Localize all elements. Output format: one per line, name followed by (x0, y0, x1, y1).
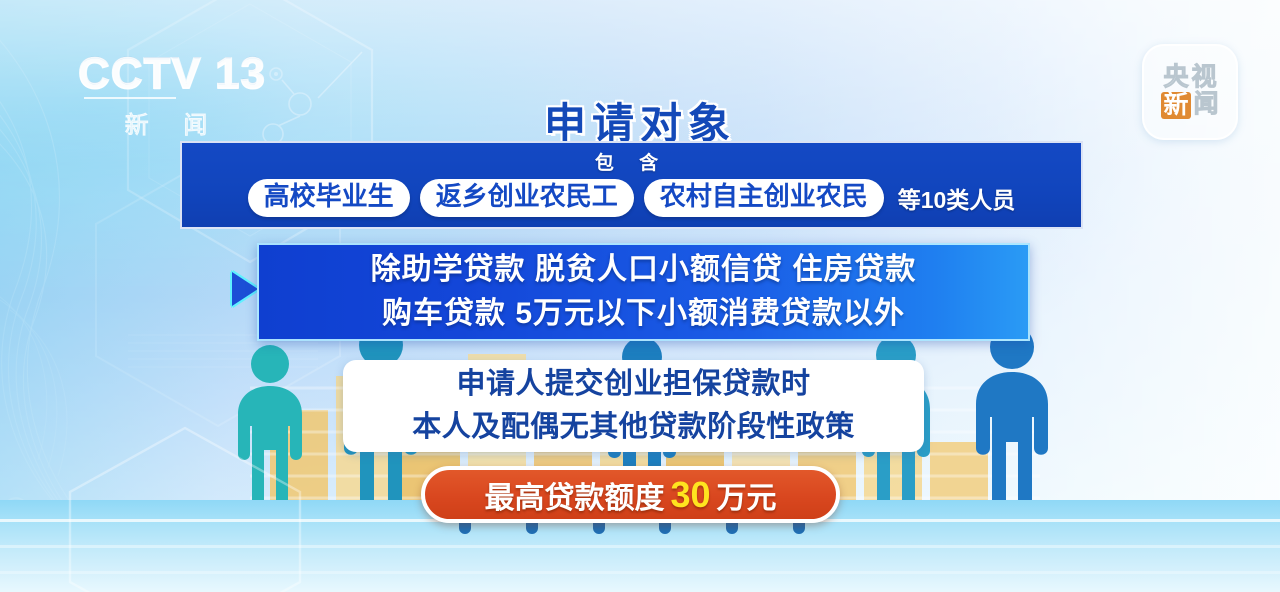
panel-exclude-line-1: 除助学贷款 脱贫人口小额信贷 住房贷款 (371, 248, 917, 292)
panel-policy: 申请人提交创业担保贷款时 本人及配偶无其他贷款阶段性政策 (343, 360, 924, 452)
broadcast-graphic: CCTV 13 新 闻 央 视 新 闻 申请对象 包 含 高校毕业生 返乡创业农… (0, 0, 1280, 592)
chip-rural-self-employed-farmer[interactable]: 农村自主创业农民 (644, 179, 884, 217)
badge-char-shi: 视 (1192, 65, 1217, 90)
badge-char-yang: 央 (1163, 65, 1188, 90)
panel-exclude-line-2: 购车贷款 5万元以下小额消费贷款以外 (382, 292, 905, 336)
max-loan-label: 最高贷款额度 (484, 473, 664, 517)
pill-shadow-dots (432, 521, 832, 535)
decorative-hexagon-floor (60, 422, 310, 592)
panel-include-heading: 包 含 (182, 148, 1081, 175)
chip-returning-migrant-worker[interactable]: 返乡创业农民工 (420, 179, 634, 217)
chip-college-graduate[interactable]: 高校毕业生 (248, 179, 410, 217)
cctv-news-badge-row-1: 央 视 (1163, 65, 1216, 90)
panel-include: 包 含 高校毕业生 返乡创业农民工 农村自主创业农民 等10类人员 (180, 141, 1083, 229)
panel-policy-line-2: 本人及配偶无其他贷款阶段性政策 (412, 406, 855, 449)
panel-exclude: 除助学贷款 脱贫人口小额信贷 住房贷款 购车贷款 5万元以下小额消费贷款以外 (257, 243, 1030, 341)
panel-include-tail: 等10类人员 (898, 181, 1016, 215)
play-triangle-icon (232, 272, 258, 306)
person-silhouette (958, 322, 1066, 506)
max-loan-unit: 万元 (717, 473, 777, 517)
panel-policy-line-1: 申请人提交创业担保贷款时 (456, 363, 810, 406)
max-loan-amount: 30 (670, 477, 710, 513)
panel-include-chip-row: 高校毕业生 返乡创业农民工 农村自主创业农民 等10类人员 (182, 179, 1081, 217)
max-loan-pill: 最高贷款额度 30 万元 (421, 466, 840, 523)
